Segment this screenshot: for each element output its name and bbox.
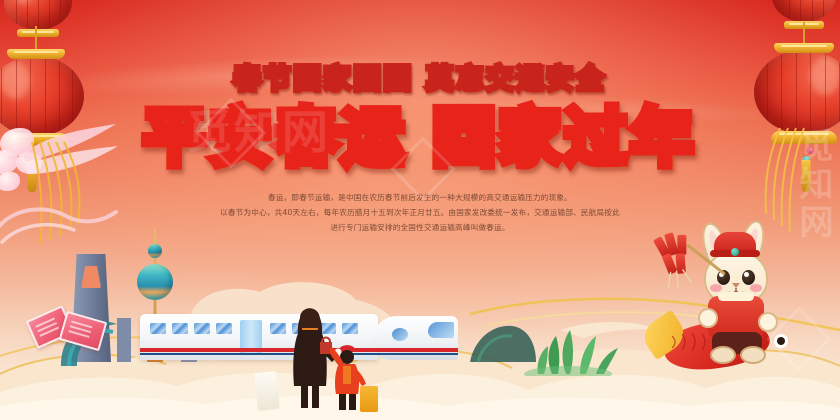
poster-canvas: 春节回家团圆 莫忘交通安全 平安春运 回家过年 春运，即春节运输，是中国在农历春… xyxy=(0,0,840,420)
firecracker-bundle xyxy=(651,228,705,288)
poster-headline: 平安春运 回家过年 xyxy=(143,107,697,169)
rabbit-cheek xyxy=(710,284,722,292)
rabbit-paw xyxy=(698,308,718,328)
green-foliage xyxy=(508,324,628,376)
poster-text-block: 春节回家团圆 莫忘交通安全 平安春运 回家过年 春运，即春节运输，是中国在农历春… xyxy=(0,66,840,235)
train-locomotive-nose xyxy=(372,316,458,360)
rabbit-foot xyxy=(710,346,736,364)
poster-subtitle: 春节回家团圆 莫忘交通安全 xyxy=(234,66,606,93)
rabbit-mascot xyxy=(660,228,810,378)
rabbit-cheek xyxy=(750,284,762,292)
body-line: 进行专门运输安排的全国性交通运输高峰叫做春运。 xyxy=(185,221,655,236)
body-line: 以春节为中心，共40天左右，每年农历腊月十五到次年正月廿五。由国家发改委统一发布… xyxy=(185,206,655,221)
rabbit-collar xyxy=(718,292,754,301)
shopping-bag xyxy=(360,386,378,412)
rabbit-paw xyxy=(758,312,778,332)
poster-body-copy: 春运，即春节运输，是中国在农历春节前后发生的一种大规模的高交通运输压力的现象。 … xyxy=(185,191,655,235)
suitcase xyxy=(254,371,280,411)
child-traveler xyxy=(330,340,376,414)
rabbit-cap-gem xyxy=(731,248,739,256)
body-line: 春运，即春节运输，是中国在农历春节前后发生的一种大规模的高交通运输压力的现象。 xyxy=(185,191,655,206)
koi-eye xyxy=(774,334,788,348)
rabbit-foot xyxy=(740,346,766,364)
